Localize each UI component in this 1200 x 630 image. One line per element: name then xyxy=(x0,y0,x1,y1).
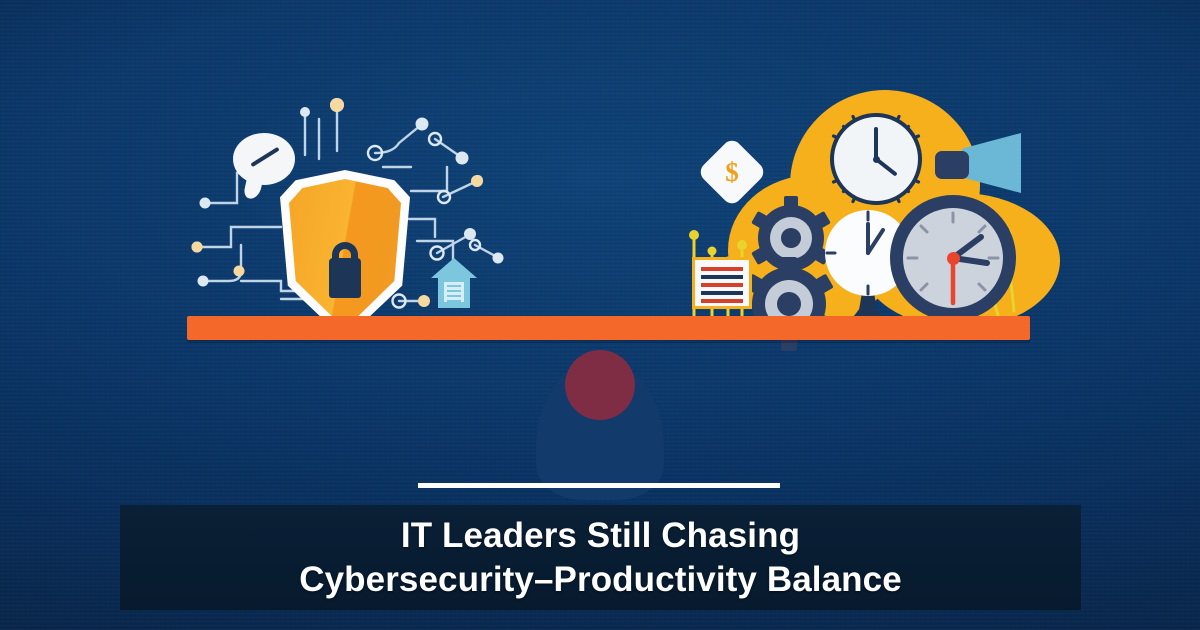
speech-bubble-dash xyxy=(250,147,279,167)
title-line-1: IT Leaders Still Chasing xyxy=(401,514,800,558)
house-roof xyxy=(431,258,477,278)
alarm-clock-icon xyxy=(890,195,1016,321)
megaphone-neck xyxy=(935,151,969,179)
alarm-clock-hub xyxy=(947,252,960,265)
title-banner: IT Leaders Still Chasing Cybersecurity–P… xyxy=(120,505,1081,610)
balance-beam xyxy=(187,316,1030,340)
dollar-diamond-icon: $ xyxy=(697,137,768,208)
productivity-side-group: $ xyxy=(680,85,1070,330)
cybersecurity-side-group xyxy=(185,95,505,330)
padlock-body xyxy=(329,258,361,298)
document-card-lines xyxy=(695,260,749,306)
wall-clock-icon xyxy=(830,113,922,205)
house-document-icon xyxy=(431,258,477,308)
shield-lock-icon xyxy=(280,170,410,340)
title-line-2: Cybersecurity–Productivity Balance xyxy=(299,558,902,602)
wall-clock-minute-hand xyxy=(874,127,878,159)
graphic-canvas: $ xyxy=(0,0,1200,630)
fulcrum-sphere xyxy=(565,350,635,420)
house-document-lines xyxy=(444,282,464,302)
megaphone-icon xyxy=(935,133,1023,195)
title-divider xyxy=(418,483,780,488)
document-card-icon xyxy=(692,257,752,309)
wall-clock-hub xyxy=(873,156,880,163)
